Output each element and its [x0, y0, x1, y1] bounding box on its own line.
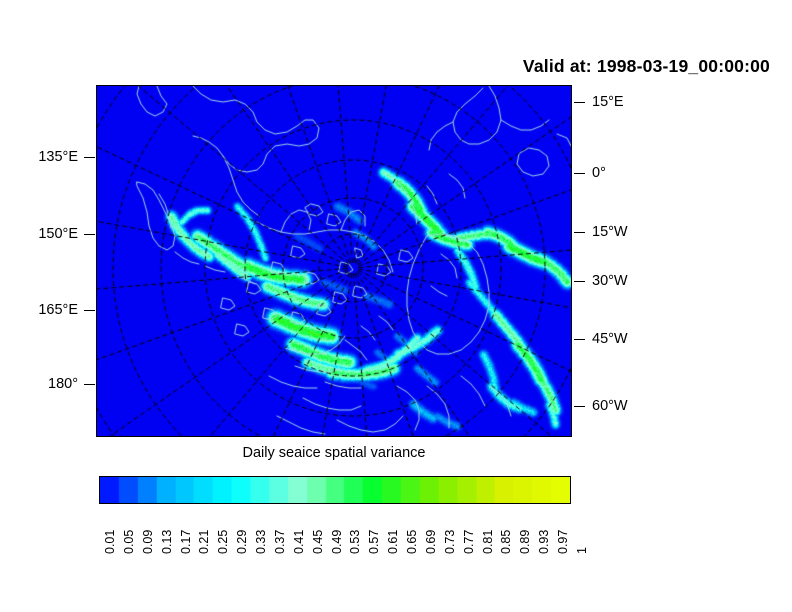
colorbar-tick-label: 1	[576, 547, 589, 554]
colorbar-caption: Daily seaice spatial variance	[96, 445, 572, 461]
right-tick-mark	[574, 173, 585, 174]
map-panel	[96, 85, 572, 437]
colorbar-tick-label: 0.09	[142, 530, 155, 554]
right-tick-mark	[574, 102, 585, 103]
colorbar-tick-label: 0.53	[349, 530, 362, 554]
colorbar-tick-label: 0.85	[500, 530, 513, 554]
colorbar-tick-label: 0.33	[255, 530, 268, 554]
colorbar-tick-label: 0.73	[444, 530, 457, 554]
right-axis-label: 60°W	[592, 399, 628, 414]
left-axis-label: 135°E	[0, 150, 78, 165]
colorbar-tick-label: 0.81	[482, 530, 495, 554]
colorbar-tick-label: 0.21	[198, 530, 211, 554]
colorbar-tick-label: 0.89	[519, 530, 532, 554]
colorbar-tick-label: 0.77	[463, 530, 476, 554]
page-title: Valid at: 1998-03-19_00:00:00	[0, 56, 770, 77]
right-axis-label: 30°W	[592, 274, 628, 289]
colorbar-tick-label: 0.29	[236, 530, 249, 554]
left-axis-label: 165°E	[0, 303, 78, 318]
right-axis-label: 15°E	[592, 95, 624, 110]
right-tick-mark	[574, 339, 585, 340]
colorbar-tick-label: 0.49	[331, 530, 344, 554]
colorbar-gradient	[99, 476, 571, 504]
sea-ice-variance-map	[97, 86, 571, 436]
right-axis-label: 15°W	[592, 225, 628, 240]
left-tick-mark	[84, 157, 95, 158]
colorbar-tick-label: 0.45	[312, 530, 325, 554]
colorbar-tick-label: 0.61	[387, 530, 400, 554]
right-tick-mark	[574, 406, 585, 407]
colorbar-tick-label: 0.37	[274, 530, 287, 554]
colorbar-tick-label: 0.69	[425, 530, 438, 554]
colorbar-tick-label: 0.05	[123, 530, 136, 554]
colorbar-tick-label: 0.13	[161, 530, 174, 554]
colorbar	[99, 476, 571, 504]
right-tick-mark	[574, 281, 585, 282]
colorbar-tick-label: 0.17	[180, 530, 193, 554]
colorbar-tick-label: 0.25	[217, 530, 230, 554]
left-tick-mark	[84, 384, 95, 385]
colorbar-tick-label: 0.41	[293, 530, 306, 554]
right-tick-mark	[574, 232, 585, 233]
left-tick-mark	[84, 310, 95, 311]
colorbar-tick-label: 0.01	[104, 530, 117, 554]
colorbar-tick-label: 0.57	[368, 530, 381, 554]
colorbar-tick-label: 0.97	[557, 530, 570, 554]
left-axis-label: 150°E	[0, 227, 78, 242]
right-axis-label: 0°	[592, 166, 606, 181]
colorbar-tick-label: 0.65	[406, 530, 419, 554]
left-tick-mark	[84, 234, 95, 235]
colorbar-tick-label: 0.93	[538, 530, 551, 554]
left-axis-label: 180°	[0, 377, 78, 392]
right-axis-label: 45°W	[592, 332, 628, 347]
